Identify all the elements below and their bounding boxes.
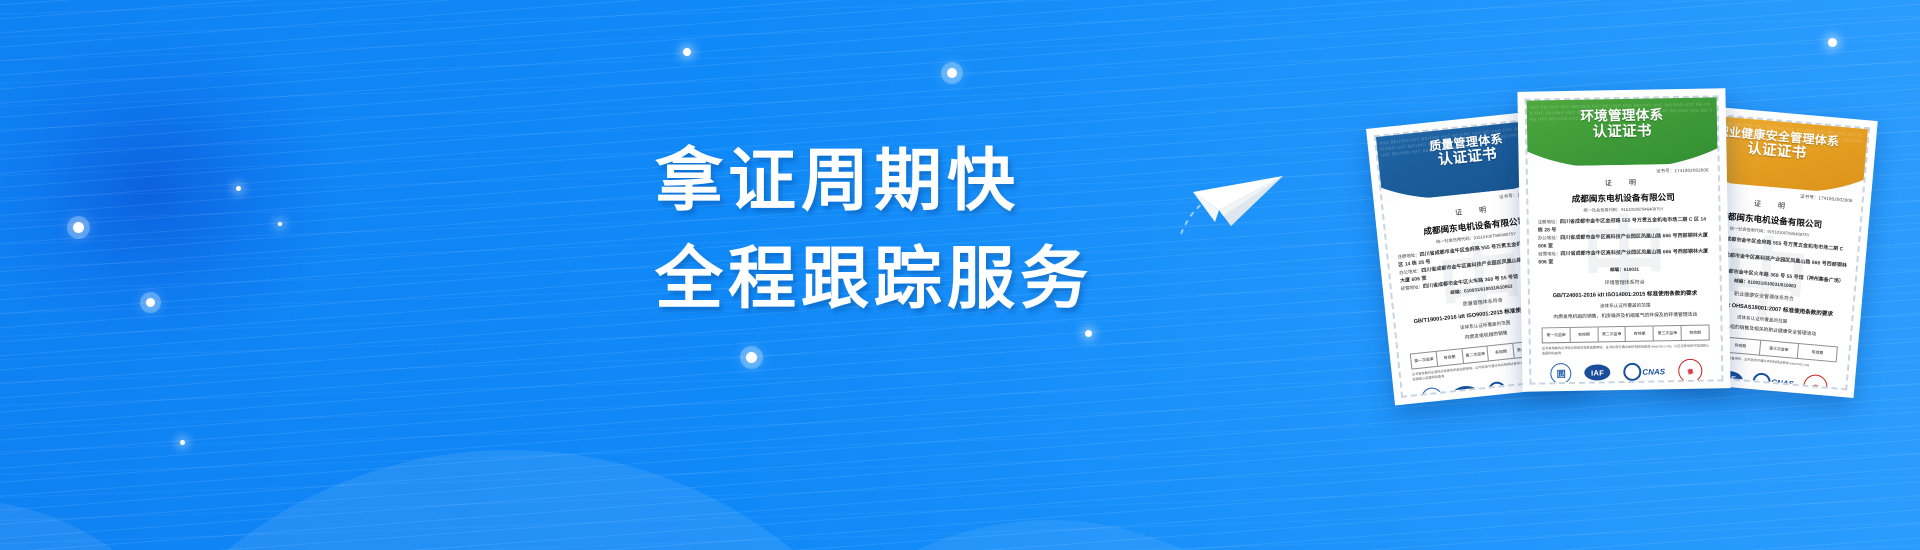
certificate-number-value: 1741902002806 — [1818, 195, 1853, 203]
certificate-number-value: 1741902002806 — [1674, 168, 1708, 174]
credit-code-value: 91510106794640875Y — [1621, 206, 1663, 212]
cnas-ring-icon — [1751, 372, 1771, 391]
cnas-ring-icon — [1487, 381, 1507, 398]
certificate-number-label: 证书号： — [1800, 194, 1819, 201]
cnas-label: CNAS — [1642, 367, 1665, 376]
certificate-logo-row: 囻 IAF CNAS 章 — [1540, 357, 1712, 385]
certificate-postcode: 邮编：610031 — [1538, 265, 1710, 274]
sparkle-dot — [1085, 330, 1092, 337]
sparkle-dot — [278, 222, 282, 226]
address-2-value: 四川省成都市金牛区高科技产业园区凤凰山路 666 号西部钢林大厦 606 室 — [1538, 233, 1708, 250]
sparkle-dot — [1828, 38, 1837, 47]
audit-cell: 有效期 — [1682, 326, 1709, 340]
address-3-label: 经营地址： — [1401, 284, 1424, 291]
credit-code-label: 统一社会信用代码： — [1436, 235, 1474, 244]
postcode-label: 邮编： — [1610, 267, 1624, 272]
paper-plane-icon — [1175, 148, 1295, 240]
audit-cell: 第一次监审 — [1411, 352, 1438, 369]
address-2-label: 办公地址： — [1538, 235, 1560, 240]
iaf-logo: IAF — [1584, 364, 1610, 380]
certificate-number-label: 证书号： — [1656, 168, 1674, 173]
audit-cell: 有效期 — [1626, 326, 1654, 340]
certificate-body: 中 证书号：1741902002806 证 明 成都闽东电机设备有限公司 统一社… — [1528, 163, 1722, 384]
cnas-logo: CNAS — [1751, 372, 1794, 391]
audit-cell: 有效期 — [1437, 349, 1464, 366]
postcode-label: 邮编： — [1734, 278, 1748, 284]
certificate-company: 成都闽东电机设备有限公司 — [1537, 191, 1709, 206]
certificate-system: 环境管理体系符合 — [1539, 277, 1711, 287]
credit-code-value: 91510106794640875Y — [1767, 229, 1810, 238]
cnca-logo: 囻 — [1420, 386, 1443, 398]
iaf-logo: IAF — [1451, 385, 1479, 398]
certificate-inner-border: HXC BEIJING HXC BEIJING HXC BEIJING HXC … — [1525, 95, 1724, 384]
audit-cell: 第二次监审 — [1462, 346, 1489, 363]
cnas-logo: CNAS — [1623, 362, 1665, 381]
certificate-number-label: 证书号： — [1499, 193, 1518, 200]
credit-code-label: 统一社会信用代码： — [1730, 226, 1768, 234]
credit-code-label: 统一社会信用代码： — [1583, 207, 1621, 213]
decorative-circle-main — [60, 450, 960, 550]
cnas-ring-icon — [1623, 363, 1641, 381]
certificate-card-environment[interactable]: HXC BEIJING HXC BEIJING HXC BEIJING HXC … — [1517, 88, 1730, 392]
address-3-value: 四川省成都市金牛区高科技产业园区凤凰山路 666 号西部钢林大厦 606 室 — [1538, 249, 1708, 266]
certificate-fine-print: 证书有效期内必须经过规定的年度监督审核，证书状态可通过本机构网站查询 www.h… — [1540, 343, 1712, 355]
certificate-number: 证书号：1741902002806 — [1537, 168, 1709, 177]
certificate-stack: HXC BEIJING HXC BEIJING HXC BEIJING HXC … — [1380, 70, 1920, 490]
audit-cell: 第三次监审 — [1759, 341, 1799, 358]
red-seal-logo: 章 — [1675, 357, 1704, 385]
certificate-dates: 发证日期：2019年1月5日 换证日期：2019年1月5日 有效期至：2022年… — [1414, 396, 1574, 398]
address-1-label: 注册地址： — [1397, 252, 1420, 259]
sparkle-dot — [746, 352, 757, 363]
certificate-title: 环境管理体系 认证证书 — [1527, 105, 1718, 142]
sparkle-dot — [146, 298, 155, 307]
cnca-logo: 囻 — [1551, 363, 1572, 384]
audit-cell: 第三次监审 — [1654, 326, 1682, 340]
issue-date: 发证日期：2019年1月5日 — [1685, 389, 1724, 391]
audit-cell: 有效期 — [1570, 327, 1598, 341]
audit-cell: 第二次监审 — [1598, 327, 1626, 341]
certificate-credit-code: 统一社会信用代码：91510106794640875Y — [1537, 206, 1709, 215]
credit-code-value: 91510106794640875Y — [1473, 231, 1516, 240]
decorative-circle-left — [0, 500, 220, 550]
cnas-label: CNAS — [1771, 378, 1794, 389]
address-3-label: 经营地址： — [1538, 251, 1560, 256]
certificate-header-environment: HXC BEIJING HXC BEIJING HXC BEIJING HXC … — [1527, 97, 1718, 166]
postcode-label: 邮编： — [1450, 289, 1464, 295]
sparkle-dot — [73, 222, 84, 233]
certificate-scope-label: 该体系认证所覆盖的范围 — [1539, 301, 1711, 310]
certificate-dates: 发证日期：2019年1月5日 换证日期：2019年1月5日 有效期至：2022年… — [1541, 384, 1713, 385]
address-1-value: 四川省成都市金牛区金府路 555 号万贯五金机电市场二期 C 区 14 栋 28… — [1538, 217, 1706, 234]
audit-cell: 第一次监审 — [1543, 328, 1571, 342]
sparkle-dot — [947, 68, 957, 78]
certificate-title-line-2: 认证证书 — [1527, 122, 1717, 142]
certificate-address-3: 经营地址：四川省成都市金牛区高科技产业园区凤凰山路 666 号西部钢林大厦 60… — [1538, 247, 1710, 266]
sparkle-dot — [236, 186, 241, 191]
certificate-scope: 内燃发电机组的销售、机房噪声及机组尾气的环保及的环境管理活动 — [1539, 311, 1711, 321]
certificate-standard: GB/T24001-2016 idt ISO14001:2015 标准使用条款的… — [1539, 288, 1711, 299]
red-seal-logo: 章 — [1802, 373, 1829, 391]
sparkle-dot — [180, 440, 185, 445]
headline-line-2: 全程跟踪服务 — [655, 236, 1295, 322]
address-2-label: 办公地址： — [1399, 268, 1422, 275]
postcode-value: 610031 — [1624, 267, 1639, 272]
certification-hero-banner: 拿证周期快 全程跟踪服务 HXC BEIJING HXC BEIJING HXC… — [0, 0, 1920, 550]
audit-cell: 有效期 — [1798, 344, 1837, 361]
audit-cell: 有效期 — [1488, 344, 1515, 361]
address-1-label: 注册地址： — [1538, 219, 1560, 224]
certificate-audit-table: 第一次监审 有效期 第二次监审 有效期 第三次监审 有效期 — [1542, 325, 1710, 344]
sparkle-dot — [683, 48, 691, 56]
certificate-zhengming: 证 明 — [1537, 177, 1709, 190]
decorative-circle-right — [740, 520, 1360, 550]
